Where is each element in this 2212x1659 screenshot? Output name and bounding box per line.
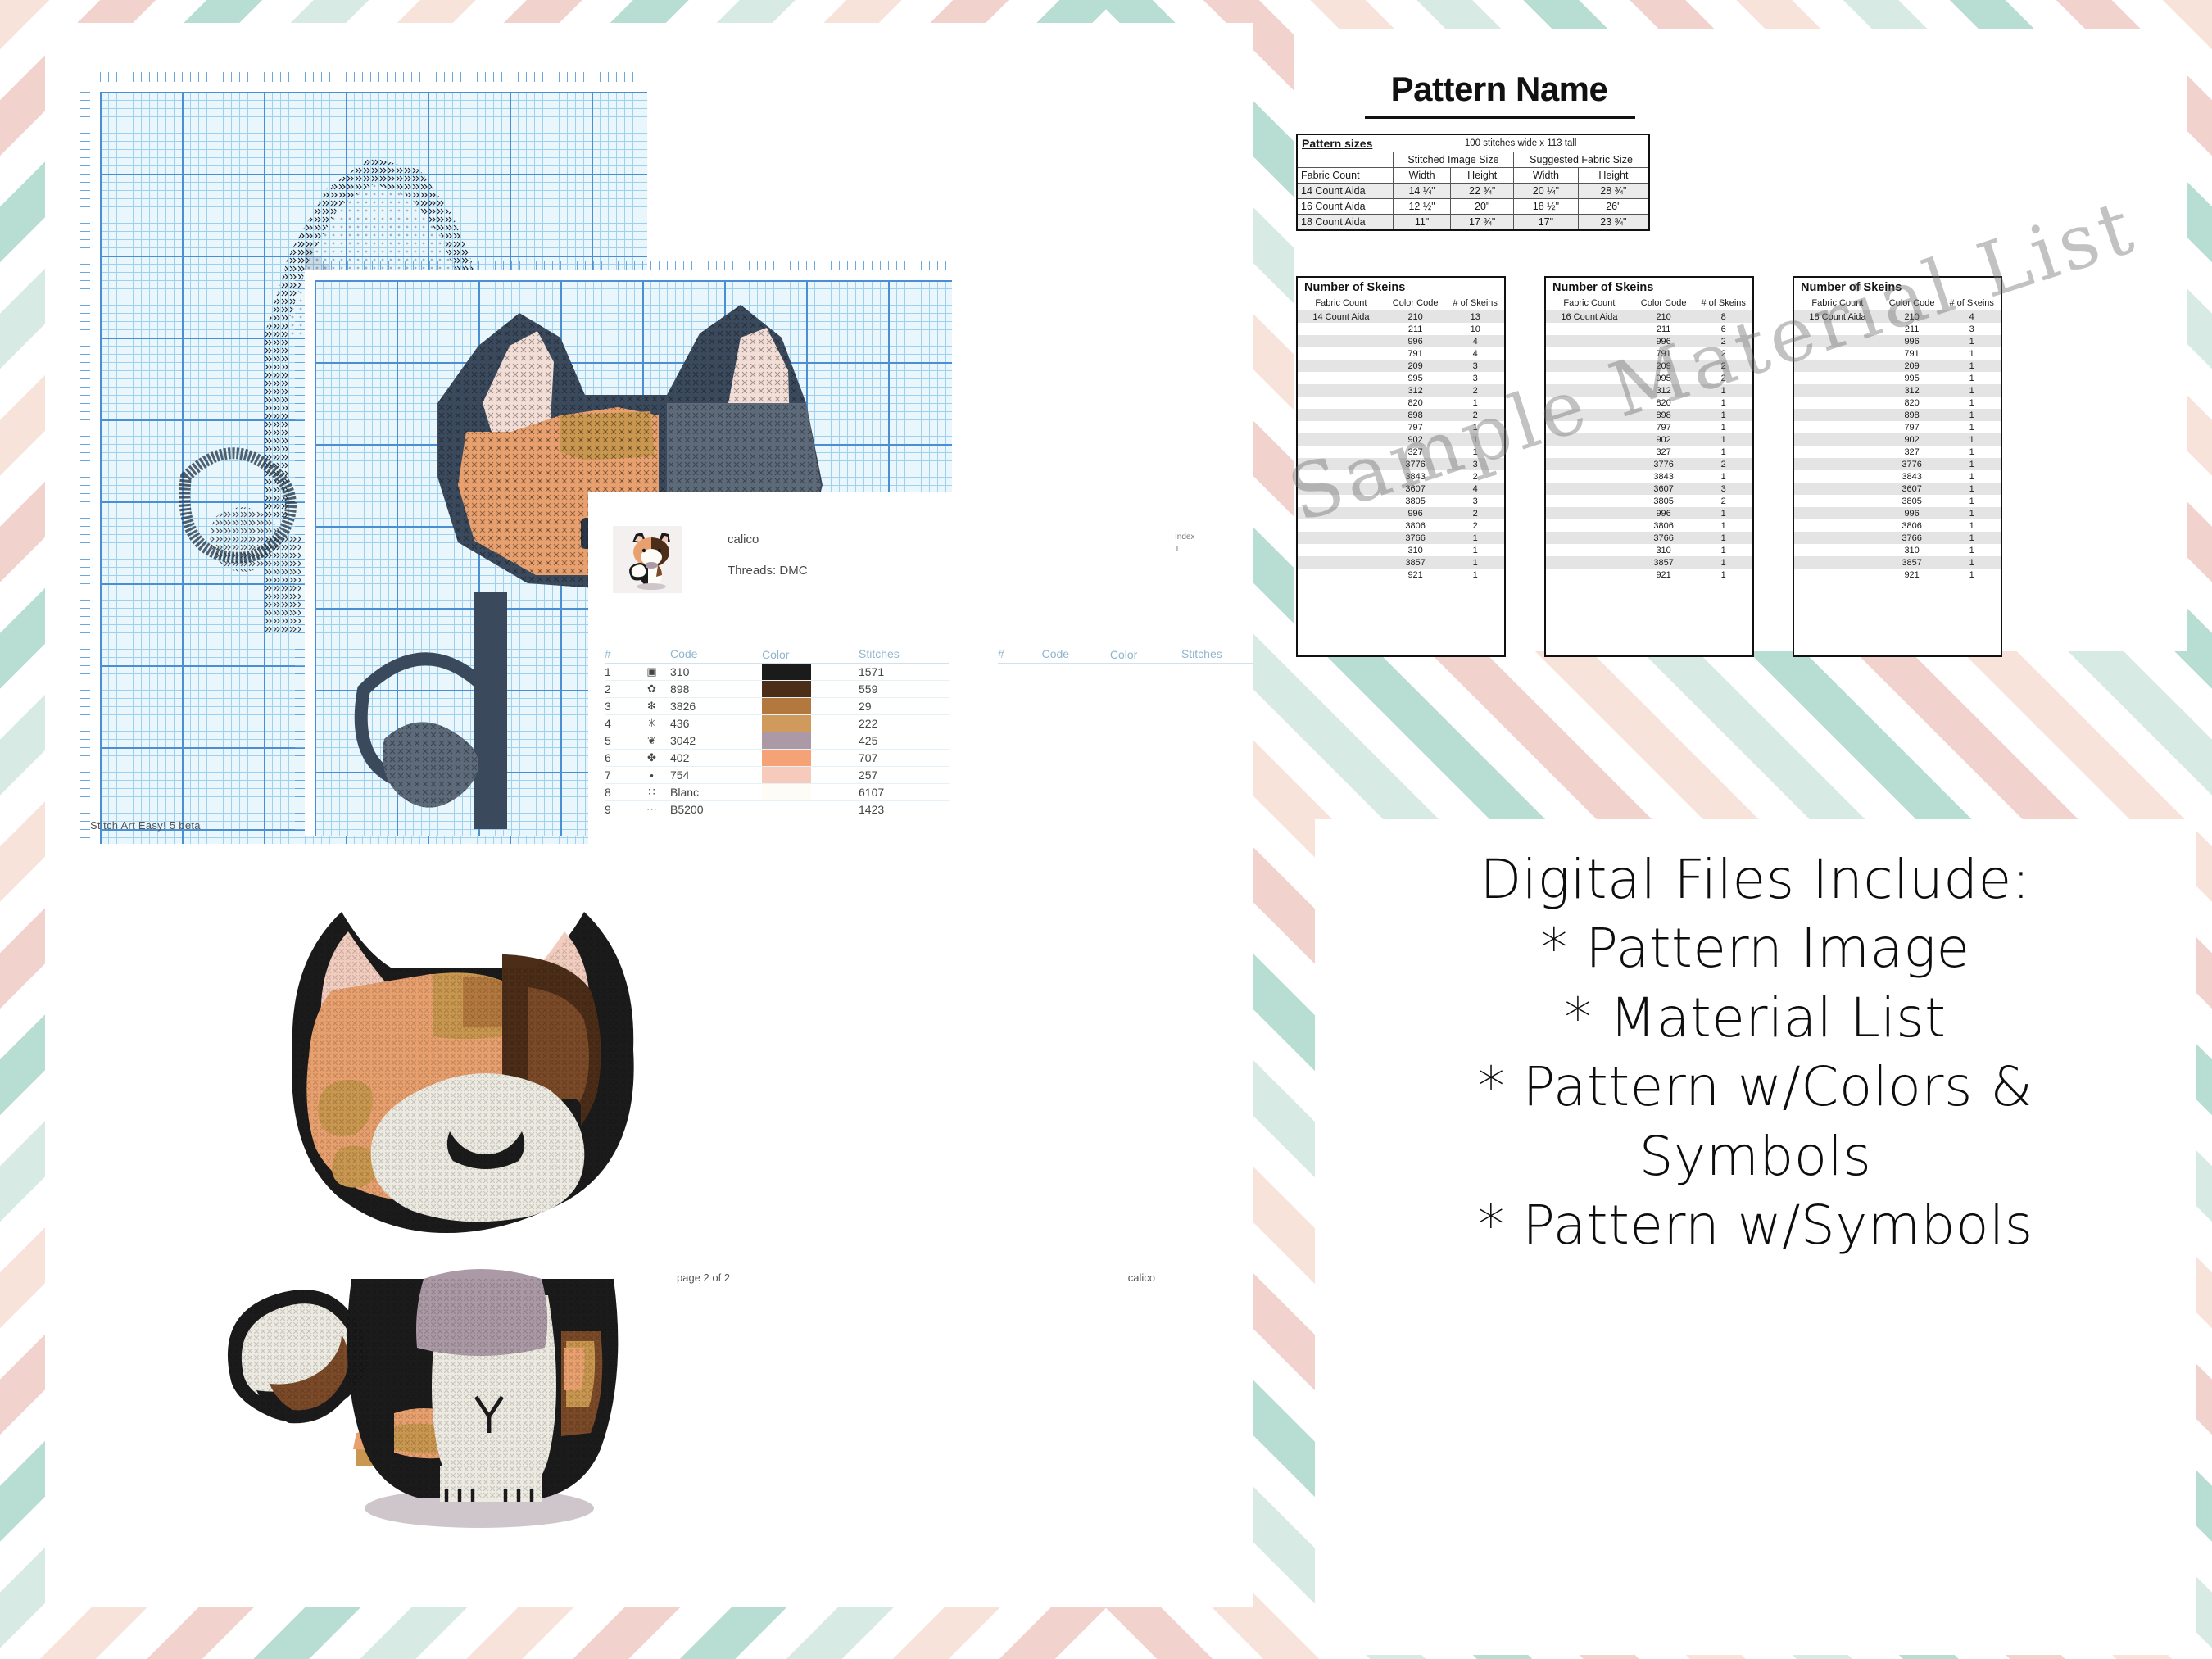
skeins-count: 4 [1446, 347, 1504, 360]
skeins-fabric-count [1794, 470, 1881, 483]
skeins-color-code: 209 [1633, 360, 1695, 372]
skeins-row: 7912 [1546, 347, 1752, 360]
skeins-row: 3101 [1546, 544, 1752, 556]
skeins-count: 1 [1694, 569, 1752, 581]
size-stitched-width: 14 ¼" [1393, 184, 1450, 199]
skeins-count: 1 [1942, 556, 2001, 569]
skeins-row: 38571 [1546, 556, 1752, 569]
skeins-color-code: 3805 [1633, 495, 1695, 507]
legend-row-color-swatch [762, 767, 859, 784]
skeins-row: 3271 [1298, 446, 1504, 458]
skeins-color-code: 327 [1385, 446, 1447, 458]
skeins-row: 3121 [1794, 384, 2001, 397]
size-stitched-height: 20" [1451, 199, 1514, 215]
skeins-color-code: 921 [1385, 569, 1447, 581]
skeins-color-code: 820 [1385, 397, 1447, 409]
skeins-count: 2 [1446, 470, 1504, 483]
skeins-count: 1 [1942, 421, 2001, 433]
skeins-fabric-count [1298, 384, 1385, 397]
skeins-row: 9021 [1794, 433, 2001, 446]
legend-row-symbol: ✿ [632, 681, 670, 698]
legend-row-stitches: 707 [859, 750, 949, 767]
skeins-row: 38431 [1794, 470, 2001, 483]
skeins-count: 3 [1694, 483, 1752, 495]
legend-row-color-swatch [762, 715, 859, 732]
pattern-sizes-group-row: Stitched Image Size Suggested Fabric Siz… [1297, 152, 1649, 168]
skeins-color-code: 211 [1881, 323, 1943, 335]
skeins-row: 37661 [1298, 532, 1504, 544]
legend-row-stitches: 1571 [859, 664, 949, 681]
skeins-col-fabric: Fabric Count [1794, 296, 1881, 310]
skeins-color-code: 3766 [1881, 532, 1943, 544]
skeins-count: 1 [1446, 446, 1504, 458]
skeins-count: 2 [1694, 335, 1752, 347]
skeins-row: 8201 [1298, 397, 1504, 409]
skeins-row: 9961 [1794, 507, 2001, 519]
skeins-row: 8981 [1546, 409, 1752, 421]
skeins-row: 37762 [1546, 458, 1752, 470]
skeins-col-fabric: Fabric Count [1546, 296, 1633, 310]
skeins-color-code: 3843 [1385, 470, 1447, 483]
skeins-color-code: 3806 [1881, 519, 1943, 532]
col-fabric-height: Height [1578, 168, 1649, 184]
pattern-size-row: 14 Count Aida14 ¼"22 ¾"20 ¼"28 ¾" [1297, 184, 1649, 199]
index-value: 1 [1175, 545, 1180, 554]
skeins-row: 7911 [1794, 347, 2001, 360]
skeins-fabric-count [1546, 360, 1633, 372]
skeins-count: 1 [1942, 495, 2001, 507]
skeins-fabric-count [1794, 347, 1881, 360]
skeins-row: 38053 [1298, 495, 1504, 507]
skeins-fabric-count [1546, 446, 1633, 458]
index-caption: Index [1175, 533, 1194, 542]
skeins-count: 2 [1694, 458, 1752, 470]
skeins-fabric-count [1794, 495, 1881, 507]
skeins-count: 1 [1942, 446, 2001, 458]
skeins-color-code: 996 [1633, 507, 1695, 519]
skeins-count: 1 [1446, 532, 1504, 544]
skeins-count: 1 [1694, 384, 1752, 397]
legend-row-number: 4 [605, 715, 632, 732]
skeins-row: 9021 [1298, 433, 1504, 446]
skeins-color-code: 3766 [1385, 532, 1447, 544]
skeins-fabric-count [1794, 372, 1881, 384]
legend2-col-code: Code [1042, 646, 1110, 664]
skeins-row: 7971 [1794, 421, 2001, 433]
skeins-count: 1 [1694, 397, 1752, 409]
skeins-count: 1 [1694, 446, 1752, 458]
skeins-color-code: 996 [1633, 335, 1695, 347]
skeins-color-code: 995 [1385, 372, 1447, 384]
skeins-row: 18 Count Aida2104 [1794, 310, 2001, 323]
skeins-fabric-count [1546, 397, 1633, 409]
skeins-row: 9951 [1794, 372, 2001, 384]
skeins-color-code: 327 [1881, 446, 1943, 458]
skeins-count: 1 [1446, 544, 1504, 556]
skeins-row: 38061 [1794, 519, 2001, 532]
legend-row: 8∷Blanc6107 [605, 784, 949, 801]
legend2-col-number: # [998, 646, 1018, 664]
skeins-count: 1 [1942, 544, 2001, 556]
skeins-fabric-count [1794, 360, 1881, 372]
skeins-count: 1 [1446, 569, 1504, 581]
skeins-row: 7914 [1298, 347, 1504, 360]
skeins-fabric-count [1298, 519, 1385, 532]
legend-row-symbol: ▣ [632, 664, 670, 681]
pattern-sizes-heading-row: Pattern sizes 100 stitches wide x 113 ta… [1297, 134, 1649, 152]
legend-row: 2✿898559 [605, 681, 949, 698]
skeins-color-code: 996 [1881, 507, 1943, 519]
skeins-color-code: 995 [1633, 372, 1695, 384]
chart-ruler-top [100, 72, 647, 82]
design-name-label: calico [728, 533, 759, 546]
skeins-row: 8201 [1794, 397, 2001, 409]
skeins-color-code: 898 [1385, 409, 1447, 421]
legend-row-number: 8 [605, 784, 632, 801]
skeins-fabric-count [1298, 397, 1385, 409]
skeins-row: 3121 [1546, 384, 1752, 397]
skeins-count: 1 [1694, 409, 1752, 421]
legend-row-stitches: 559 [859, 681, 949, 698]
skeins-fabric-count [1794, 544, 1881, 556]
skeins-row: 14 Count Aida21013 [1298, 310, 1504, 323]
skeins-fabric-count [1298, 335, 1385, 347]
legend-row-symbol: ✳ [632, 715, 670, 732]
skeins-count: 1 [1942, 458, 2001, 470]
legend-row-stitches: 6107 [859, 784, 949, 801]
legend-col-stitches: Stitches [859, 646, 949, 664]
skeins-row: 9953 [1298, 372, 1504, 384]
color-legend-table-second-column: # Code Color Stitches [998, 646, 1253, 664]
skeins-fabric-count: 14 Count Aida [1298, 310, 1385, 323]
col-stitched-width: Width [1393, 168, 1450, 184]
skeins-color-code: 995 [1881, 372, 1943, 384]
pattern-sizes-column-row: Fabric Count Width Height Width Height [1297, 168, 1649, 184]
legend-row-stitches: 222 [859, 715, 949, 732]
color-legend-table: # Code Color Stitches 1▣31015712✿8985593… [605, 646, 949, 818]
skeins-row: 2091 [1794, 360, 2001, 372]
skeins-fabric-count [1298, 458, 1385, 470]
legend2-col-color: Color [1110, 646, 1181, 664]
legend-row-number: 3 [605, 698, 632, 715]
skeins-row: 37763 [1298, 458, 1504, 470]
skeins-fabric-count [1298, 470, 1385, 483]
skeins-color-code: 902 [1633, 433, 1695, 446]
skeins-color-code: 3776 [1633, 458, 1695, 470]
skeins-row: 38062 [1298, 519, 1504, 532]
legend-row-number: 6 [605, 750, 632, 767]
skeins-color-code: 3857 [1633, 556, 1695, 569]
skeins-count: 3 [1942, 323, 2001, 335]
group-header-fabric: Suggested Fabric Size [1514, 152, 1649, 168]
skeins-row: 2116 [1546, 323, 1752, 335]
skeins-color-code: 3857 [1881, 556, 1943, 569]
skeins-count: 10 [1446, 323, 1504, 335]
design-thumbnail [613, 526, 682, 593]
skeins-color-code: 3843 [1881, 470, 1943, 483]
document-title: Pattern Name [1294, 70, 1704, 109]
material-list-document: Pattern Name Pattern sizes 100 stitches … [1294, 29, 2187, 651]
skeins-fabric-count [1546, 372, 1633, 384]
skeins-col-code: Color Code [1633, 296, 1695, 310]
threads-brand-label: Threads: DMC [728, 564, 808, 578]
skeins-fabric-count [1298, 433, 1385, 446]
digital-files-item-3: Symbols [1639, 1122, 1872, 1191]
skeins-fabric-count [1794, 556, 1881, 569]
size-fabric-width: 18 ½" [1514, 199, 1579, 215]
skeins-count: 1 [1694, 519, 1752, 532]
legend-row-number: 7 [605, 767, 632, 784]
skeins-row: 9021 [1546, 433, 1752, 446]
skeins-row: 9961 [1546, 507, 1752, 519]
skeins-heading: Number of Skeins [1298, 278, 1504, 296]
skeins-color-code: 3857 [1385, 556, 1447, 569]
skeins-fabric-count [1794, 483, 1881, 495]
legend-row-code: 436 [670, 715, 762, 732]
legend-row-number: 2 [605, 681, 632, 698]
skeins-col-fabric: Fabric Count [1298, 296, 1385, 310]
col-fabric-width: Width [1514, 168, 1579, 184]
skeins-count: 1 [1942, 372, 2001, 384]
digital-files-item-1: * Material List [1565, 984, 1947, 1053]
skeins-row: 8201 [1546, 397, 1752, 409]
skeins-row: 38061 [1546, 519, 1752, 532]
skeins-fabric-count [1298, 495, 1385, 507]
legend-row-color-swatch [762, 698, 859, 715]
legend-col-symbol [632, 646, 670, 664]
skeins-fabric-count [1298, 569, 1385, 581]
col-fabric-count: Fabric Count [1297, 168, 1393, 184]
skeins-color-code: 3806 [1385, 519, 1447, 532]
skeins-count: 1 [1942, 519, 2001, 532]
skeins-row: 3271 [1546, 446, 1752, 458]
skeins-color-code: 310 [1881, 544, 1943, 556]
stitch-count-label: 100 stitches wide x 113 tall [1393, 134, 1649, 152]
skeins-row: 3271 [1794, 446, 2001, 458]
index-label: Index 1 [1175, 531, 1194, 555]
skeins-fabric-count [1546, 421, 1633, 433]
skeins-color-code: 211 [1633, 323, 1695, 335]
size-fabric-width: 20 ¼" [1514, 184, 1579, 199]
legend-row-symbol: ❦ [632, 732, 670, 750]
skeins-color-code: 3607 [1633, 483, 1695, 495]
legend-col-color: Color [762, 646, 859, 664]
skeins-color-code: 797 [1633, 421, 1695, 433]
skeins-count: 1 [1446, 556, 1504, 569]
digital-files-item-0: * Pattern Image [1540, 914, 1969, 983]
size-fabric-count: 16 Count Aida [1297, 199, 1393, 215]
skeins-fabric-count [1546, 458, 1633, 470]
col-stitched-height: Height [1451, 168, 1514, 184]
skeins-fabric-count [1298, 347, 1385, 360]
skeins-color-code: 312 [1633, 384, 1695, 397]
skeins-color-code: 211 [1385, 323, 1447, 335]
skeins-color-code: 3806 [1633, 519, 1695, 532]
skeins-count: 2 [1694, 372, 1752, 384]
skeins-fabric-count [1794, 384, 1881, 397]
legend-row-number: 9 [605, 801, 632, 818]
legend-col-code: Code [670, 646, 762, 664]
skeins-row: 2093 [1298, 360, 1504, 372]
legend-row-color-swatch [762, 750, 859, 767]
legend-row: 1▣3101571 [605, 664, 949, 681]
calico-cat-artwork [201, 856, 741, 1540]
skeins-row: 9964 [1298, 335, 1504, 347]
skeins-fabric-count [1546, 495, 1633, 507]
skeins-col-code: Color Code [1385, 296, 1447, 310]
skeins-color-code: 921 [1881, 569, 1943, 581]
legend-row-symbol: ✤ [632, 750, 670, 767]
skeins-fabric-count [1298, 483, 1385, 495]
skeins-fabric-count [1794, 458, 1881, 470]
skeins-fabric-count [1298, 446, 1385, 458]
digital-files-item-4: * Pattern w/Symbols [1477, 1191, 2033, 1260]
skeins-fabric-count [1794, 323, 1881, 335]
skeins-color-code: 310 [1633, 544, 1695, 556]
legend-row-symbol: ∷ [632, 784, 670, 801]
skeins-row: 36071 [1794, 483, 2001, 495]
skeins-color-code: 3776 [1881, 458, 1943, 470]
legend-row-color-swatch [762, 801, 859, 818]
group-header-stitched: Stitched Image Size [1393, 152, 1513, 168]
skeins-fabric-count [1546, 507, 1633, 519]
skeins-table: Fabric CountColor Code# of Skeins18 Coun… [1794, 296, 2001, 581]
skeins-count: 2 [1694, 360, 1752, 372]
skeins-color-code: 996 [1385, 335, 1447, 347]
skeins-count: 2 [1446, 519, 1504, 532]
skeins-heading: Number of Skeins [1794, 278, 2001, 296]
skeins-col-count: # of Skeins [1942, 296, 2001, 310]
skeins-count: 1 [1942, 335, 2001, 347]
skeins-color-code: 797 [1385, 421, 1447, 433]
legend-row-number: 1 [605, 664, 632, 681]
skeins-row: 7971 [1546, 421, 1752, 433]
skeins-fabric-count [1546, 384, 1633, 397]
digital-files-heading: Digital Files Include: [1480, 845, 2030, 914]
skeins-fabric-count [1794, 519, 1881, 532]
legend-col-number: # [605, 646, 632, 664]
skeins-row: 3122 [1298, 384, 1504, 397]
legend-row-color-swatch [762, 732, 859, 750]
skeins-count: 1 [1942, 507, 2001, 519]
legend-row-code: Blanc [670, 784, 762, 801]
skeins-row: 9962 [1546, 335, 1752, 347]
skeins-count: 1 [1942, 532, 2001, 544]
legend2-col-stitches: Stitches [1181, 646, 1253, 664]
skeins-count: 8 [1694, 310, 1752, 323]
skeins-fabric-count [1546, 569, 1633, 581]
skeins-count: 1 [1942, 483, 2001, 495]
skeins-row: 9211 [1546, 569, 1752, 581]
skeins-row: 37761 [1794, 458, 2001, 470]
legend-row-code: 310 [670, 664, 762, 681]
skeins-table-16count: Number of SkeinsFabric CountColor Code# … [1544, 276, 1754, 657]
skeins-fabric-count [1794, 335, 1881, 347]
skeins-fabric-count [1546, 519, 1633, 532]
legend2-col-symbol [1018, 646, 1041, 664]
skeins-count: 1 [1694, 421, 1752, 433]
skeins-header-row: Fabric CountColor Code# of Skeins [1794, 296, 2001, 310]
skeins-fabric-count [1298, 507, 1385, 519]
skeins-color-code: 3843 [1633, 470, 1695, 483]
pattern-size-row: 16 Count Aida12 ½"20"18 ½"26" [1297, 199, 1649, 215]
skeins-row: 36073 [1546, 483, 1752, 495]
skeins-color-code: 209 [1881, 360, 1943, 372]
skeins-row: 37661 [1794, 532, 2001, 544]
skeins-fabric-count [1546, 556, 1633, 569]
skeins-count: 1 [1694, 544, 1752, 556]
legend-row: 9⋯B52001423 [605, 801, 949, 818]
chart-ruler-left [80, 92, 90, 844]
skeins-row: 3101 [1298, 544, 1504, 556]
size-fabric-height: 23 ¾" [1578, 215, 1649, 231]
legend-header-row: # Code Color Stitches [605, 646, 949, 664]
skeins-color-code: 820 [1633, 397, 1695, 409]
skeins-fabric-count [1546, 335, 1633, 347]
skeins-row: 36074 [1298, 483, 1504, 495]
skeins-color-code: 3607 [1385, 483, 1447, 495]
skeins-count: 2 [1446, 409, 1504, 421]
skeins-count: 2 [1446, 507, 1504, 519]
skeins-fabric-count [1546, 483, 1633, 495]
skeins-fabric-count [1794, 397, 1881, 409]
skeins-table-14count: Number of SkeinsFabric CountColor Code# … [1296, 276, 1506, 657]
skeins-count: 1 [1446, 397, 1504, 409]
legend-row-number: 5 [605, 732, 632, 750]
legend-row-code: 754 [670, 767, 762, 784]
skeins-count: 1 [1694, 470, 1752, 483]
legend-row-stitches: 257 [859, 767, 949, 784]
skeins-color-code: 312 [1881, 384, 1943, 397]
skeins-count: 1 [1694, 433, 1752, 446]
legend-row-color-swatch [762, 784, 859, 801]
skeins-color-code: 791 [1385, 347, 1447, 360]
legend2-header-row: # Code Color Stitches [998, 646, 1253, 664]
skeins-fabric-count [1546, 544, 1633, 556]
footer-design-name: calico [1128, 1271, 1155, 1284]
skeins-count: 3 [1446, 360, 1504, 372]
skeins-count: 1 [1942, 569, 2001, 581]
legend-row-code: 402 [670, 750, 762, 767]
skeins-table-18count: Number of SkeinsFabric CountColor Code# … [1793, 276, 2002, 657]
pattern-sizes-heading: Pattern sizes [1297, 134, 1393, 152]
skeins-row: 38571 [1794, 556, 2001, 569]
legend-row-symbol: ✻ [632, 698, 670, 715]
skeins-fabric-count [1298, 421, 1385, 433]
legend-row-stitches: 425 [859, 732, 949, 750]
skeins-fabric-count [1546, 433, 1633, 446]
legend-row-color-swatch [762, 664, 859, 681]
digital-files-item-2: * Pattern w/Colors & [1478, 1053, 2033, 1122]
legend-row-symbol: ⋯ [632, 801, 670, 818]
skeins-color-code: 210 [1881, 310, 1943, 323]
skeins-row: 9211 [1794, 569, 2001, 581]
skeins-count: 6 [1694, 323, 1752, 335]
legend-row: 6✤402707 [605, 750, 949, 767]
skeins-fabric-count [1298, 372, 1385, 384]
pattern-size-row: 18 Count Aida11"17 ¾"17"23 ¾" [1297, 215, 1649, 231]
size-fabric-count: 14 Count Aida [1297, 184, 1393, 199]
skeins-fabric-count [1546, 470, 1633, 483]
size-stitched-height: 17 ¾" [1451, 215, 1514, 231]
skeins-color-code: 3766 [1633, 532, 1695, 544]
skeins-color-code: 312 [1385, 384, 1447, 397]
size-fabric-width: 17" [1514, 215, 1579, 231]
skeins-row: 8982 [1298, 409, 1504, 421]
skeins-count: 1 [1942, 360, 2001, 372]
skeins-fabric-count [1794, 569, 1881, 581]
skeins-row: 9952 [1546, 372, 1752, 384]
